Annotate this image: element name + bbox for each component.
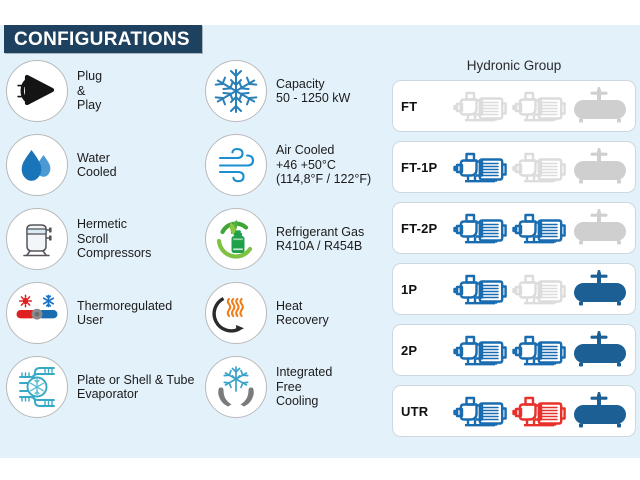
hydronic-row-list: FT bbox=[392, 80, 636, 437]
pump-icon-2 bbox=[512, 270, 568, 308]
hydronic-row-icons bbox=[453, 148, 635, 186]
hydronic-row-icons bbox=[453, 270, 635, 308]
pump-icon-2 bbox=[512, 148, 568, 186]
feature-label: Plate or Shell & Tube Evaporator bbox=[77, 373, 194, 402]
heat-recovery-icon bbox=[205, 282, 267, 344]
feature-label: Air Cooled +46 +50°C (114,8°F / 122°F) bbox=[276, 143, 371, 186]
air-cooled-wind-icon bbox=[205, 134, 267, 196]
refrigerant-gas-icon bbox=[205, 208, 267, 270]
feature-item: Thermoregulated User bbox=[6, 280, 201, 346]
buffer-tank-icon bbox=[571, 209, 629, 247]
feature-label: Hermetic Scroll Compressors bbox=[77, 217, 151, 260]
hydronic-row[interactable]: UTR bbox=[392, 385, 636, 437]
hydronic-row-label: FT bbox=[393, 99, 453, 114]
hydronic-row[interactable]: FT-2P bbox=[392, 202, 636, 254]
page-title: CONFIGURATIONS bbox=[14, 30, 190, 49]
buffer-tank-icon bbox=[571, 270, 629, 308]
feature-label: Plug & Play bbox=[77, 69, 102, 112]
feature-label: Refrigerant Gas R410A / R454B bbox=[276, 225, 364, 254]
hydronic-row-label: 2P bbox=[393, 343, 453, 358]
hydronic-group-title: Hydronic Group bbox=[392, 58, 636, 74]
evaporator-coil-icon bbox=[6, 356, 68, 418]
scroll-compressor-icon bbox=[6, 208, 68, 270]
buffer-tank-icon bbox=[571, 392, 629, 430]
feature-item: Capacity 50 - 1250 kW bbox=[205, 58, 390, 124]
feature-label: Water Cooled bbox=[77, 151, 117, 180]
pump-icon-1 bbox=[453, 87, 509, 125]
feature-column-left: Plug & Play Water Cooled Hermetic Scroll… bbox=[6, 58, 201, 428]
hydronic-row-icons bbox=[453, 209, 635, 247]
plug-and-play-icon bbox=[6, 60, 68, 122]
pump-icon-1 bbox=[453, 209, 509, 247]
hydronic-row[interactable]: 2P bbox=[392, 324, 636, 376]
configurations-header: CONFIGURATIONS bbox=[4, 25, 202, 53]
feature-item: Plug & Play bbox=[6, 58, 201, 124]
buffer-tank-icon bbox=[571, 87, 629, 125]
feature-item: Integrated Free Cooling bbox=[205, 354, 390, 420]
hydronic-row-icons bbox=[453, 392, 635, 430]
hydronic-group-panel: Hydronic Group FT bbox=[392, 58, 636, 446]
feature-label: Capacity 50 - 1250 kW bbox=[276, 77, 350, 106]
hydronic-row[interactable]: FT-1P bbox=[392, 141, 636, 193]
pump-icon-1 bbox=[453, 148, 509, 186]
feature-item: Heat Recovery bbox=[205, 280, 390, 346]
hydronic-row-icons bbox=[453, 87, 635, 125]
pump-icon-1 bbox=[453, 270, 509, 308]
hydronic-row[interactable]: 1P bbox=[392, 263, 636, 315]
water-drop-icon bbox=[6, 134, 68, 196]
feature-label: Thermoregulated User bbox=[77, 299, 172, 328]
buffer-tank-icon bbox=[571, 148, 629, 186]
hydronic-row-label: 1P bbox=[393, 282, 453, 297]
feature-label: Integrated Free Cooling bbox=[276, 365, 332, 408]
thermoregulated-user-icon bbox=[6, 282, 68, 344]
feature-item: Refrigerant Gas R410A / R454B bbox=[205, 206, 390, 272]
hydronic-row-label: UTR bbox=[393, 404, 453, 419]
feature-item: Water Cooled bbox=[6, 132, 201, 198]
hydronic-row-label: FT-2P bbox=[393, 221, 453, 236]
feature-item: Hermetic Scroll Compressors bbox=[6, 206, 201, 272]
feature-item: Plate or Shell & Tube Evaporator bbox=[6, 354, 201, 420]
feature-column-middle: Capacity 50 - 1250 kW Air Cooled +46 +50… bbox=[205, 58, 390, 428]
pump-icon-2 bbox=[512, 331, 568, 369]
hydronic-row[interactable]: FT bbox=[392, 80, 636, 132]
feature-label: Heat Recovery bbox=[276, 299, 329, 328]
pump-icon-2 bbox=[512, 209, 568, 247]
pump-icon-2 bbox=[512, 392, 568, 430]
pump-icon-1 bbox=[453, 331, 509, 369]
free-cooling-hands-icon bbox=[205, 356, 267, 418]
feature-item: Air Cooled +46 +50°C (114,8°F / 122°F) bbox=[205, 132, 390, 198]
pump-icon-1 bbox=[453, 392, 509, 430]
hydronic-row-icons bbox=[453, 331, 635, 369]
slide-root: CONFIGURATIONS Plug & Play Water Cooled bbox=[0, 0, 640, 480]
hydronic-row-label: FT-1P bbox=[393, 160, 453, 175]
snowflake-icon bbox=[205, 60, 267, 122]
pump-icon-2 bbox=[512, 87, 568, 125]
buffer-tank-icon bbox=[571, 331, 629, 369]
